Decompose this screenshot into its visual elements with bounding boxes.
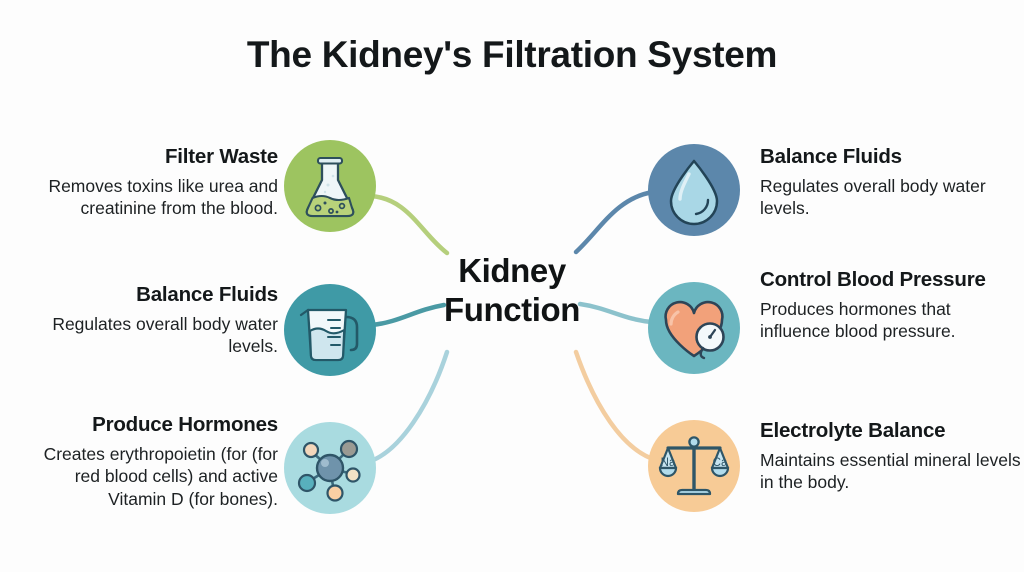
item-heading: Balance Fluids (760, 145, 1022, 170)
heart-gauge-icon[interactable] (648, 282, 740, 374)
scales-label-na: Na (661, 457, 676, 469)
item-body: Maintains essential mineral levels in th… (760, 449, 1022, 495)
item-heading: Produce Hormones (16, 413, 278, 438)
scales-label-ca: Ca (713, 457, 728, 469)
center-hub: Kidney Function (402, 252, 622, 329)
connector-droplet (576, 192, 653, 252)
connector-flask (370, 196, 447, 253)
item-body: Creates erythropoietin (for (for red blo… (16, 443, 278, 511)
item-filter-waste: Filter Waste Removes toxins like urea an… (16, 145, 278, 220)
molecule-icon[interactable] (284, 422, 376, 514)
item-heading: Balance Fluids (16, 283, 278, 308)
balance-scales-icon[interactable]: Na Ca (648, 420, 740, 512)
item-heading: Electrolyte Balance (760, 419, 1022, 444)
item-body: Removes toxins like urea and creatinine … (16, 175, 278, 221)
item-heading: Filter Waste (16, 145, 278, 170)
item-balance-fluids-right: Balance Fluids Regulates overall body wa… (760, 145, 1022, 220)
item-produce-hormones: Produce Hormones Creates erythropoietin … (16, 413, 278, 511)
item-heading: Control Blood Pressure (760, 268, 1022, 293)
connector-molecule (368, 352, 447, 462)
item-body: Regulates overall body water levels. (760, 175, 1022, 221)
hub-line-1: Kidney (402, 252, 622, 291)
item-balance-fluids-left: Balance Fluids Regulates overall body wa… (16, 283, 278, 358)
item-body: Produces hormones that influence blood p… (760, 298, 1022, 344)
infographic-canvas: The Kidney's Filtration System Kidney Fu… (0, 0, 1024, 572)
connector-scales (576, 352, 656, 460)
item-control-blood-pressure: Control Blood Pressure Produces hormones… (760, 268, 1022, 343)
flask-icon[interactable] (284, 140, 376, 232)
item-body: Regulates overall body water levels. (16, 313, 278, 359)
item-electrolyte-balance: Electrolyte Balance Maintains essential … (760, 419, 1022, 494)
hub-line-2: Function (402, 291, 622, 330)
measuring-cup-icon[interactable] (284, 284, 376, 376)
water-droplet-icon[interactable] (648, 144, 740, 236)
